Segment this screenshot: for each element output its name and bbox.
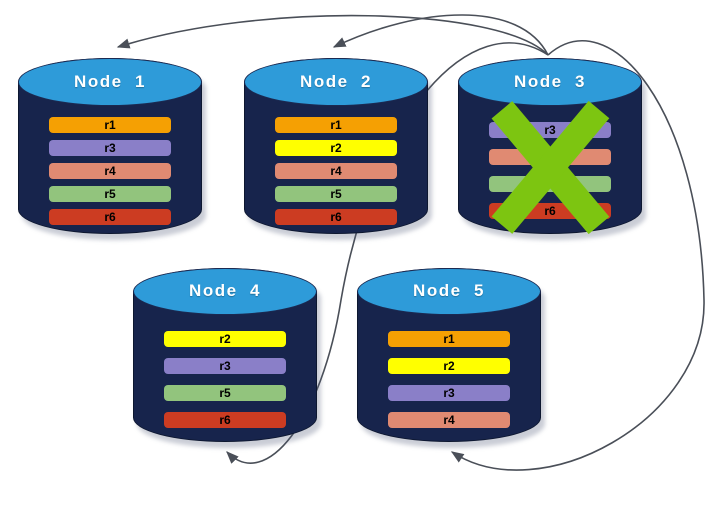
node-1-label: Node 1 xyxy=(18,58,202,106)
node-2-record-list: r1r2r4r5r6 xyxy=(244,117,428,225)
node-2[interactable]: Node 2r1r2r4r5r6 xyxy=(244,58,428,234)
node-4-record-r2: r2 xyxy=(164,331,285,347)
node-3-label: Node 3 xyxy=(458,58,642,106)
node-5[interactable]: Node 5r1r2r3r4 xyxy=(357,268,541,442)
node-5-record-r3: r3 xyxy=(388,385,509,401)
node-3-record-r6: r6 xyxy=(489,203,610,219)
node-4[interactable]: Node 4r2r3r5r6 xyxy=(133,268,317,442)
node-5-record-list: r1r2r3r4 xyxy=(357,331,541,428)
node-5-label: Node 5 xyxy=(357,268,541,315)
node-2-label: Node 2 xyxy=(244,58,428,106)
node-1-record-r1: r1 xyxy=(49,117,170,133)
node-5-record-r2: r2 xyxy=(388,358,509,374)
replication-diagram: Node 1r1r3r4r5r6Node 2r1r2r4r5r6Node 3r3… xyxy=(0,0,708,508)
node-3-record-list: r3r4r5r6 xyxy=(458,122,642,219)
node-2-record-r1: r1 xyxy=(275,117,396,133)
node-1-record-r4: r4 xyxy=(49,163,170,179)
node-5-record-r1: r1 xyxy=(388,331,509,347)
node-3-record-r3: r3 xyxy=(489,122,610,138)
node-2-record-r6: r6 xyxy=(275,209,396,225)
node-1-record-list: r1r3r4r5r6 xyxy=(18,117,202,225)
node-2-record-r4: r4 xyxy=(275,163,396,179)
node-3-record-r4: r4 xyxy=(489,149,610,165)
node-4-record-list: r2r3r5r6 xyxy=(133,331,317,428)
node-1-record-r3: r3 xyxy=(49,140,170,156)
node-2-record-r5: r5 xyxy=(275,186,396,202)
node-3[interactable]: Node 3r3r4r5r6 xyxy=(458,58,642,234)
node-5-record-r4: r4 xyxy=(388,412,509,428)
node-4-record-r6: r6 xyxy=(164,412,285,428)
node-4-record-r3: r3 xyxy=(164,358,285,374)
node-1-record-r5: r5 xyxy=(49,186,170,202)
node-4-label: Node 4 xyxy=(133,268,317,315)
node-4-record-r5: r5 xyxy=(164,385,285,401)
edge-node3-to-node1 xyxy=(118,16,548,55)
node-2-record-r2: r2 xyxy=(275,140,396,156)
node-1[interactable]: Node 1r1r3r4r5r6 xyxy=(18,58,202,234)
node-3-record-r5: r5 xyxy=(489,176,610,192)
node-1-record-r6: r6 xyxy=(49,209,170,225)
